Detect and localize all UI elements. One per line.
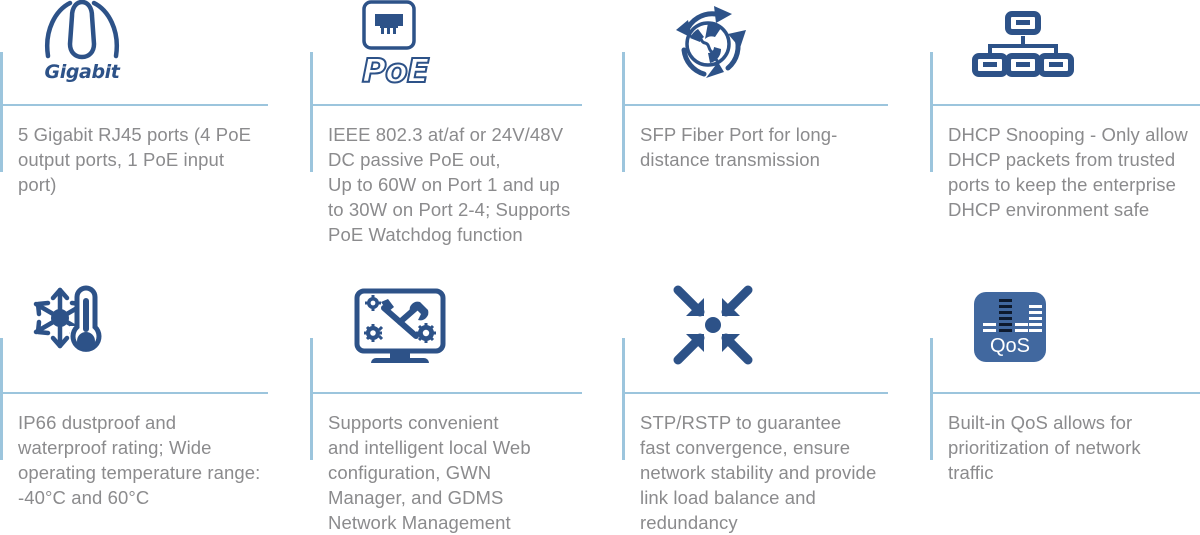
monitor-tools-icon	[354, 353, 446, 370]
divider-vertical	[310, 52, 313, 172]
feature-description: DHCP Snooping - Only allow DHCP packets …	[948, 122, 1200, 222]
divider-vertical	[0, 52, 3, 172]
divider-horizontal	[0, 392, 268, 394]
feature-card-built-in-qos: QoS Built-in QoS allows for prioritizati…	[930, 260, 1200, 520]
network-hierarchy-icon	[970, 65, 1076, 82]
divider-vertical	[622, 52, 625, 172]
feature-card-dhcp-snooping: DHCP Snooping - Only allow DHCP packets …	[930, 0, 1200, 260]
gigabit-wordmark: Gigabit	[26, 61, 138, 83]
qos-equalizer-icon: QoS	[974, 292, 1046, 362]
converge-arrows-icon	[670, 355, 756, 372]
feature-description: Built-in QoS allows for prioritization o…	[948, 410, 1200, 485]
globe-arrows-icon	[666, 73, 750, 90]
feature-description: SFP Fiber Port for long- distance transm…	[640, 122, 898, 172]
divider-horizontal	[310, 104, 582, 106]
feature-icon-container	[328, 282, 568, 392]
divider-vertical	[310, 338, 313, 460]
feature-card-ip66-rating: IP66 dustproof and waterproof rating; Wi…	[0, 260, 310, 520]
divider-horizontal	[622, 392, 888, 394]
feature-card-poe-power: PoE IEEE 802.3 at/af or 24V/48V DC passi…	[310, 0, 622, 260]
divider-vertical	[930, 338, 933, 460]
divider-vertical	[0, 338, 3, 460]
feature-card-gigabit-ports: Gigabit 5 Gigabit RJ45 ports (4 PoE outp…	[0, 0, 310, 260]
feature-description: IEEE 802.3 at/af or 24V/48V DC passive P…	[328, 122, 586, 247]
feature-card-sfp-fiber: SFP Fiber Port for long- distance transm…	[622, 0, 930, 260]
divider-horizontal	[930, 392, 1200, 394]
feature-card-web-management: Supports convenient and intelligent loca…	[310, 260, 622, 520]
feature-icon-container: QoS	[948, 282, 1188, 392]
feature-description: Supports convenient and intelligent loca…	[328, 410, 586, 535]
feature-description: STP/RSTP to guarantee fast convergence, …	[640, 410, 898, 535]
divider-horizontal	[0, 104, 268, 106]
feature-icon-container	[948, 0, 1188, 100]
feature-icon-container	[18, 282, 258, 392]
divider-horizontal	[310, 392, 582, 394]
feature-icon-container: PoE	[328, 0, 568, 100]
feature-card-stp-rstp: STP/RSTP to guarantee fast convergence, …	[622, 260, 930, 520]
divider-vertical	[622, 338, 625, 460]
divider-horizontal	[622, 104, 888, 106]
feature-icon-container	[640, 0, 880, 100]
feature-description: 5 Gigabit RJ45 ports (4 PoE output ports…	[18, 122, 276, 197]
qos-wordmark: QoS	[974, 335, 1046, 358]
divider-vertical	[930, 52, 933, 172]
feature-icon-container	[640, 282, 880, 392]
qos-bars	[981, 299, 1039, 339]
feature-description: IP66 dustproof and waterproof rating; Wi…	[18, 410, 276, 510]
divider-horizontal	[930, 104, 1200, 106]
feature-icon-container: Gigabit	[18, 0, 258, 100]
poe-wordmark: PoE	[362, 51, 428, 90]
feature-grid: Gigabit 5 Gigabit RJ45 ports (4 PoE outp…	[0, 0, 1200, 520]
snowflake-thermometer-icon	[30, 347, 120, 364]
